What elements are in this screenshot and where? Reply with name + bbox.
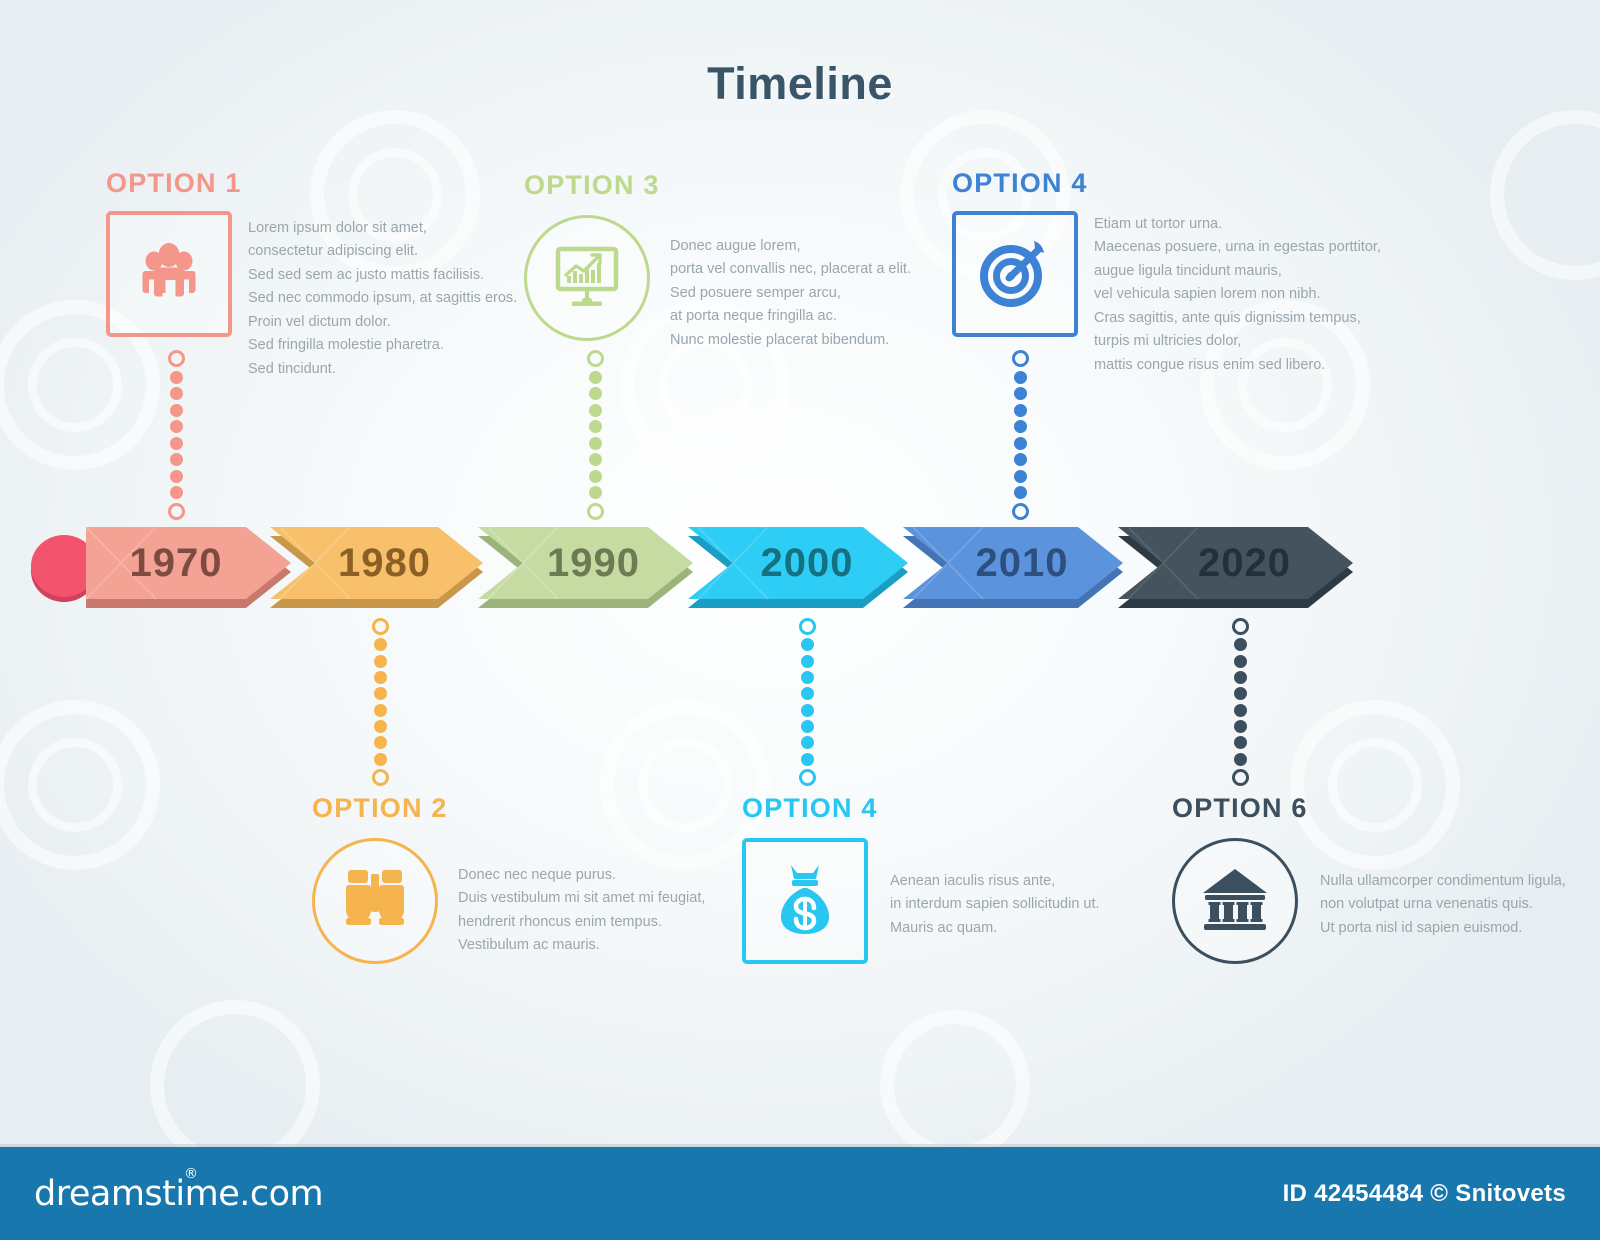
connector-dot	[1234, 687, 1247, 700]
timeline-segment-1980[interactable]: 1980	[270, 527, 500, 599]
connector-dot	[1014, 437, 1027, 450]
option-block-6[interactable]: OPTION 6	[1172, 795, 1592, 964]
connector-dot	[170, 486, 183, 499]
connector-dot	[801, 671, 814, 684]
connector-ring-top	[587, 350, 604, 367]
timeline-segment-2000[interactable]: 2000	[688, 527, 926, 599]
connector-dot	[801, 704, 814, 717]
connector-dot	[374, 720, 387, 733]
connector-ring-top	[1232, 618, 1249, 635]
connector-dot	[1234, 638, 1247, 651]
connector-option-6	[1230, 618, 1250, 786]
connector-dot	[589, 470, 602, 483]
connector-dot	[170, 371, 183, 384]
option-block-4-below[interactable]: OPTION 4 Aenean iaculis risus ante, in i	[742, 795, 1162, 964]
connector-ring-top	[799, 618, 816, 635]
connector-option-2	[370, 618, 390, 786]
connector-dot	[170, 404, 183, 417]
connector-ring-bottom	[1232, 769, 1249, 786]
option-block-2[interactable]: OPTION 2 Donec nec neque purus. Duis ves…	[312, 795, 732, 964]
connector-dot	[374, 687, 387, 700]
connector-dot	[374, 638, 387, 651]
connector-dot	[1234, 753, 1247, 766]
connector-option-4-above	[1010, 350, 1030, 520]
option-block-4-above[interactable]: OPTION 4 Etiam ut tortor urna. Maecenas …	[952, 170, 1422, 377]
option-4-above-heading: OPTION 4	[952, 170, 1422, 197]
connector-dot	[1234, 736, 1247, 749]
connector-ring-bottom	[372, 769, 389, 786]
option-1-body: Lorem ipsum dolor sit amet, consectetur …	[248, 211, 517, 381]
connector-dot	[1234, 655, 1247, 668]
connector-dot	[1014, 453, 1027, 466]
connector-dot	[1014, 420, 1027, 433]
option-block-3[interactable]: OPTION 3	[524, 172, 944, 352]
dreamstime-logo[interactable]: dreamstime.com ®	[34, 1174, 323, 1214]
option-4-below-body: Aenean iaculis risus ante, in interdum s…	[890, 838, 1100, 940]
option-2-icon-frame[interactable]	[312, 838, 438, 964]
connector-dot	[589, 437, 602, 450]
connector-dot	[801, 736, 814, 749]
option-6-icon-frame[interactable]	[1172, 838, 1298, 964]
watermark-spiral	[0, 700, 160, 870]
timeline-segment-1990[interactable]: 1990	[478, 527, 710, 599]
connector-dot	[170, 420, 183, 433]
connector-option-1	[166, 350, 186, 520]
connector-dot	[1014, 404, 1027, 417]
connector-dot	[1234, 720, 1247, 733]
connector-dot	[589, 420, 602, 433]
watermark-spiral	[880, 1010, 1030, 1160]
footer-logo-text: dreamstime.com	[34, 1174, 323, 1214]
option-4-below-icon-frame[interactable]	[742, 838, 868, 964]
option-4-above-icon-frame[interactable]	[952, 211, 1078, 337]
binoculars-icon	[340, 866, 410, 937]
timeline-bar: 1970 1980 1990	[0, 527, 1600, 617]
connector-dot	[589, 453, 602, 466]
connector-dot	[801, 655, 814, 668]
watermark-spiral	[28, 738, 122, 832]
footer-credit: ID 42454484 © Snitovets	[1283, 1180, 1566, 1208]
connector-dot	[1014, 470, 1027, 483]
connector-dot	[801, 638, 814, 651]
connector-dot	[589, 387, 602, 400]
connector-dot	[589, 486, 602, 499]
option-4-below-heading: OPTION 4	[742, 795, 1162, 822]
people-group-icon	[133, 236, 205, 313]
connector-ring-top	[1012, 350, 1029, 367]
bank-building-icon	[1199, 866, 1271, 937]
footer-bar: dreamstime.com ® ID 42454484 © Snitovets	[0, 1147, 1600, 1240]
option-3-icon-frame[interactable]	[524, 215, 650, 341]
connector-ring-bottom	[587, 503, 604, 520]
connector-ring-bottom	[168, 503, 185, 520]
connector-dot	[170, 470, 183, 483]
connector-dot	[170, 387, 183, 400]
connector-ring-top	[168, 350, 185, 367]
timeline-segment-2020[interactable]: 2020	[1118, 527, 1368, 599]
page-title: Timeline	[0, 58, 1600, 110]
option-6-heading: OPTION 6	[1172, 795, 1592, 822]
registered-mark-icon: ®	[184, 1166, 198, 1182]
connector-dot	[589, 404, 602, 417]
connector-dot	[1014, 387, 1027, 400]
connector-dot	[170, 453, 183, 466]
option-1-icon-frame[interactable]	[106, 211, 232, 337]
connector-dot	[589, 371, 602, 384]
option-2-heading: OPTION 2	[312, 795, 732, 822]
connector-dot	[374, 655, 387, 668]
option-6-body: Nulla ullamcorper condimentum ligula, no…	[1320, 838, 1566, 940]
watermark-spiral	[1490, 110, 1600, 280]
connector-dot	[801, 720, 814, 733]
connector-ring-bottom	[799, 769, 816, 786]
infographic-canvas: Timeline OPTION 1 Lorem ipsum dolor sit …	[0, 0, 1600, 1240]
timeline-segment-2010[interactable]: 2010	[903, 527, 1141, 599]
connector-dot	[170, 437, 183, 450]
connector-ring-bottom	[1012, 503, 1029, 520]
connector-dot	[1234, 704, 1247, 717]
option-1-heading: OPTION 1	[106, 170, 526, 197]
money-bag-icon	[773, 862, 837, 941]
target-dart-icon	[976, 233, 1054, 316]
monitor-chart-icon	[552, 244, 622, 313]
connector-dot	[801, 687, 814, 700]
connector-dot	[374, 736, 387, 749]
connector-dot	[374, 671, 387, 684]
connector-dot	[801, 753, 814, 766]
connector-dot	[374, 704, 387, 717]
option-3-heading: OPTION 3	[524, 172, 944, 199]
option-2-body: Donec nec neque purus. Duis vestibulum m…	[458, 838, 705, 958]
connector-dot	[374, 753, 387, 766]
connector-option-3	[585, 350, 605, 520]
connector-option-4-below	[797, 618, 817, 786]
connector-dot	[1014, 371, 1027, 384]
option-4-above-body: Etiam ut tortor urna. Maecenas posuere, …	[1094, 211, 1381, 377]
connector-dot	[1234, 671, 1247, 684]
connector-ring-top	[372, 618, 389, 635]
option-3-body: Donec augue lorem, porta vel convallis n…	[670, 215, 911, 352]
connector-dot	[1014, 486, 1027, 499]
